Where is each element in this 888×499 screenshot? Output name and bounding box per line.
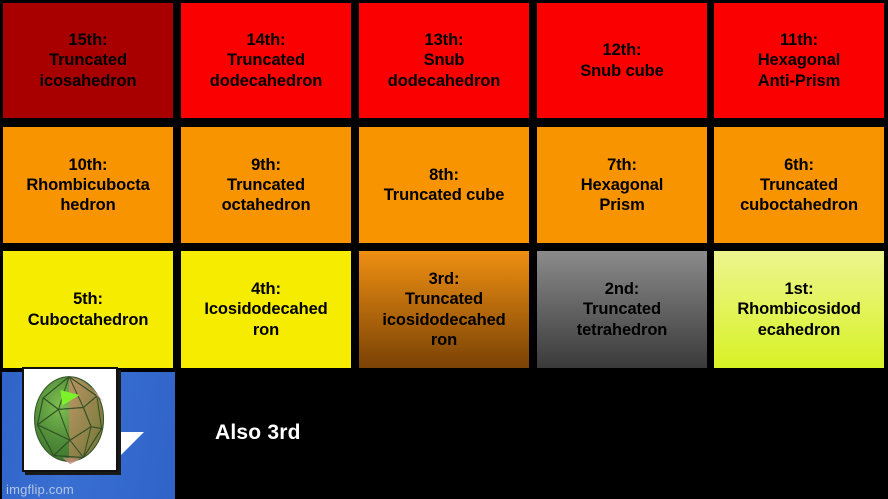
caption-text: Also 3rd — [215, 421, 301, 445]
tier-cell-5th[interactable]: 5th: Cuboctahedron — [3, 251, 173, 368]
tier-cell-15th[interactable]: 15th: Truncated icosahedron — [3, 3, 173, 118]
tier-cell-label: 7th: Hexagonal Prism — [581, 155, 664, 215]
polyhedron-icon — [24, 369, 116, 470]
imgflip-watermark: imgflip.com — [6, 482, 74, 497]
tier-cell-3rd[interactable]: 3rd: Truncated icosidodecahed ron — [359, 251, 529, 368]
tier-cell-label: 12th: Snub cube — [580, 40, 663, 80]
tier-cell-label: 6th: Truncated cuboctahedron — [740, 155, 858, 215]
tier-cell-label: 4th: Icosidodecahed ron — [204, 279, 327, 339]
meme-canvas: 15th: Truncated icosahedron14th: Truncat… — [0, 0, 888, 499]
polyhedron-image — [24, 369, 116, 470]
tier-cell-label: 14th: Truncated dodecahedron — [210, 30, 322, 90]
tier-cell-label: 10th: Rhombicubocta hedron — [26, 155, 149, 215]
tier-cell-11th[interactable]: 11th: Hexagonal Anti-Prism — [714, 3, 884, 118]
tier-cell-12th[interactable]: 12th: Snub cube — [537, 3, 707, 118]
tier-cell-4th[interactable]: 4th: Icosidodecahed ron — [181, 251, 351, 368]
tier-cell-label: 13th: Snub dodecahedron — [388, 30, 500, 90]
tier-cell-label: 5th: Cuboctahedron — [28, 289, 149, 329]
tier-cell-label: 3rd: Truncated icosidodecahed ron — [382, 269, 505, 350]
tier-cell-6th[interactable]: 6th: Truncated cuboctahedron — [714, 127, 884, 243]
tier-cell-13th[interactable]: 13th: Snub dodecahedron — [359, 3, 529, 118]
tier-cell-7th[interactable]: 7th: Hexagonal Prism — [537, 127, 707, 243]
tier-cell-10th[interactable]: 10th: Rhombicubocta hedron — [3, 127, 173, 243]
inset-photo-frame — [22, 367, 118, 472]
tier-grid: 15th: Truncated icosahedron14th: Truncat… — [0, 0, 888, 372]
tier-cell-9th[interactable]: 9th: Truncated octahedron — [181, 127, 351, 243]
tier-cell-14th[interactable]: 14th: Truncated dodecahedron — [181, 3, 351, 118]
tier-cell-label: 1st: Rhombicosidod ecahedron — [737, 279, 860, 339]
inset-panel: imgflip.com — [2, 372, 175, 499]
tier-cell-8th[interactable]: 8th: Truncated cube — [359, 127, 529, 243]
tier-cell-label: 11th: Hexagonal Anti-Prism — [758, 30, 841, 90]
tier-cell-label: 9th: Truncated octahedron — [222, 155, 311, 215]
tier-cell-label: 8th: Truncated cube — [384, 165, 505, 205]
tier-cell-1st[interactable]: 1st: Rhombicosidod ecahedron — [714, 251, 884, 368]
tier-cell-label: 2nd: Truncated tetrahedron — [577, 279, 668, 339]
tier-cell-label: 15th: Truncated icosahedron — [39, 30, 136, 90]
tier-cell-2nd[interactable]: 2nd: Truncated tetrahedron — [537, 251, 707, 368]
